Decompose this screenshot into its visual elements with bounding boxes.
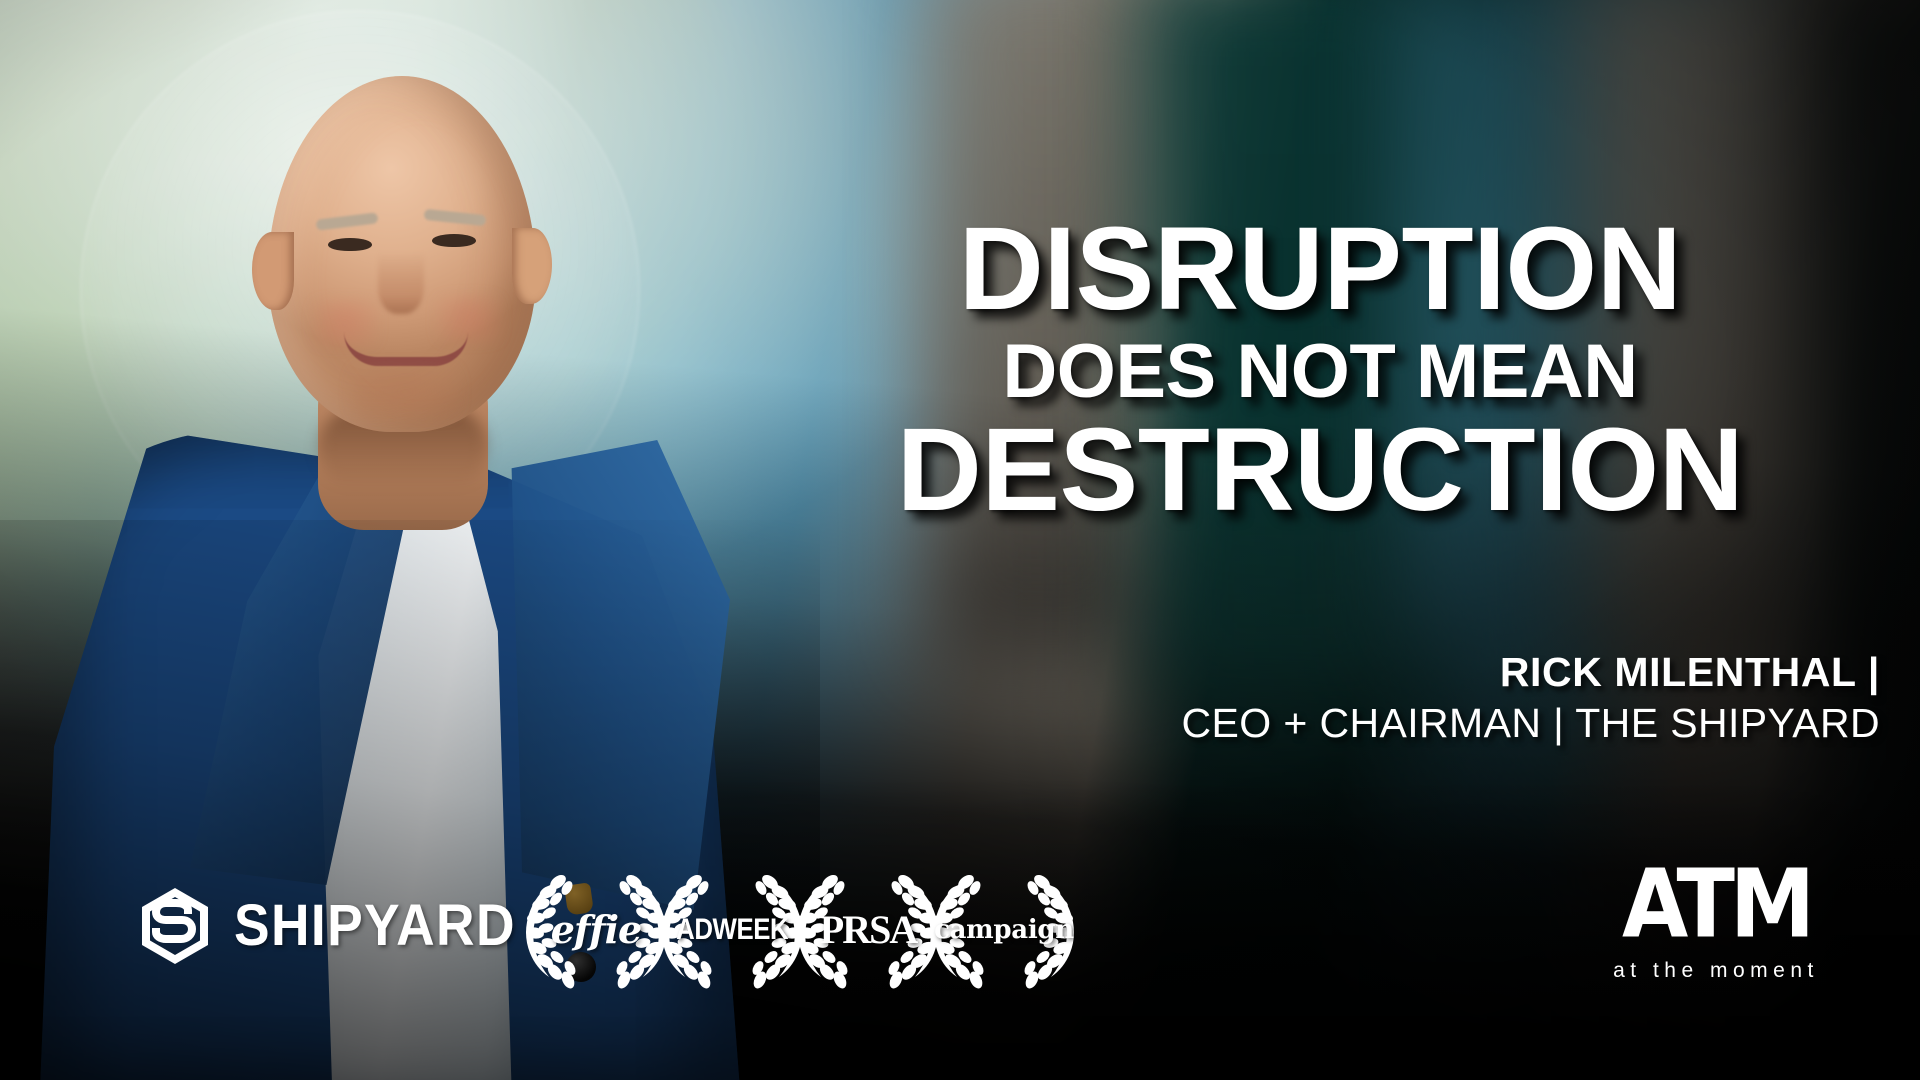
speaker-role: CEO + CHAIRMAN | THE SHIPYARD [860, 699, 1880, 748]
portrait-eye-left [328, 238, 372, 251]
atm-wordmark: ATM [1583, 861, 1848, 948]
awards-laurel-row: effie [520, 862, 1064, 998]
portrait-chin [352, 366, 458, 418]
promo-graphic-canvas: DISRUPTION DOES NOT MEAN DESTRUCTION RIC… [0, 0, 1920, 1080]
atm-show-logo: ATM at the moment [1586, 866, 1846, 983]
speaker-attribution: RICK MILENTHAL | CEO + CHAIRMAN | THE SH… [860, 650, 1880, 748]
campaign-award-laurel: campaign [928, 862, 1080, 998]
portrait-ear-right [512, 228, 552, 304]
shipyard-logo: SHIPYARD [138, 886, 540, 966]
portrait-smile [344, 332, 468, 366]
portrait-nose [378, 252, 424, 314]
shipyard-hex-s-mark-icon [138, 886, 212, 966]
speaker-name: RICK MILENTHAL | [860, 650, 1880, 695]
prsa-award-label: PRSA [820, 910, 916, 950]
headline-line-2: DOES NOT MEAN [760, 332, 1880, 411]
atm-tagline: at the moment [1586, 959, 1846, 983]
portrait-ear-left [252, 232, 294, 310]
headline-line-3: DESTRUCTION [760, 413, 1880, 529]
headline-line-1: DISRUPTION [760, 212, 1880, 328]
portrait-eye-right [432, 234, 476, 247]
effie-award-laurel: effie [520, 862, 672, 998]
shipyard-wordmark: SHIPYARD [234, 897, 516, 955]
prsa-award-laurel: PRSA [792, 862, 944, 998]
effie-award-label: effie [551, 911, 641, 949]
headline-block: DISRUPTION DOES NOT MEAN DESTRUCTION [760, 212, 1880, 528]
adweek-award-laurel: ADWEEK [656, 862, 808, 998]
campaign-award-label: campaign [934, 917, 1074, 943]
adweek-award-label: ADWEEK [676, 915, 788, 945]
